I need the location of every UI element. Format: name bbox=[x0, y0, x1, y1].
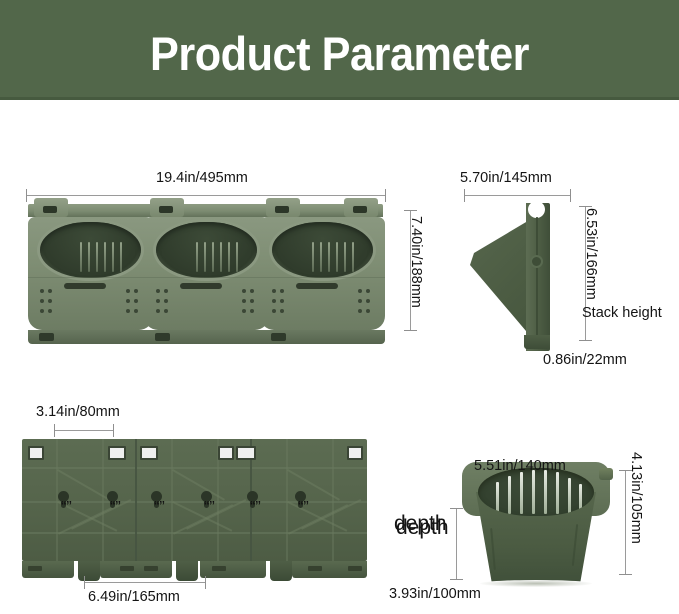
dimension-tick bbox=[579, 340, 592, 341]
dimension-tick bbox=[113, 424, 114, 437]
planter-hanger-tab bbox=[266, 198, 300, 217]
label-pot-depth: depth bbox=[396, 516, 449, 540]
panel-mount-slot bbox=[140, 446, 158, 460]
dimension-tick bbox=[464, 189, 465, 202]
dimension-tick bbox=[404, 330, 417, 331]
pocket-grip-slot bbox=[64, 283, 106, 289]
back-panel-foot bbox=[22, 561, 367, 581]
dimension-line-panel-module-width bbox=[54, 430, 114, 431]
dimension-line-planter-width bbox=[26, 195, 386, 196]
label-stack-height: Stack height bbox=[582, 305, 662, 321]
panel-keyhole bbox=[106, 491, 119, 508]
dimension-planter-width: 19.4in/495mm bbox=[156, 170, 248, 186]
dimension-tick bbox=[619, 574, 632, 575]
pot-side-tab bbox=[599, 468, 613, 480]
pot-body bbox=[462, 462, 610, 584]
dimension-line-bracket-depth bbox=[464, 195, 571, 196]
pocket-opening bbox=[156, 222, 257, 278]
page-title: Product Parameter bbox=[27, 26, 652, 81]
planter-foot bbox=[144, 330, 269, 344]
dimension-tick bbox=[84, 576, 85, 589]
panel-keyhole bbox=[200, 491, 213, 508]
dimension-tick bbox=[579, 206, 592, 207]
pocket-opening bbox=[272, 222, 373, 278]
panel-mount-slot bbox=[218, 446, 234, 460]
pocket-grip-slot bbox=[180, 283, 222, 289]
page-header-banner: Product Parameter bbox=[0, 0, 679, 100]
dimension-tick bbox=[570, 189, 571, 202]
dimension-tick bbox=[54, 424, 55, 437]
dimension-pot-height: 4.13in/105mm bbox=[628, 452, 644, 544]
dimension-panel-module-width: 3.14in/80mm bbox=[36, 404, 120, 420]
dimension-tick bbox=[26, 189, 27, 202]
dimension-tick bbox=[404, 210, 417, 211]
planter-foot bbox=[260, 330, 385, 344]
bracket-base-lip bbox=[524, 335, 550, 349]
dimension-bracket-base: 0.86in/22mm bbox=[543, 352, 627, 368]
dimension-line-panel-pitch bbox=[84, 582, 206, 583]
bracket-profile bbox=[470, 203, 566, 351]
dimension-line-panel-depth bbox=[456, 508, 457, 580]
planter-hanger-tab bbox=[344, 198, 378, 217]
panel-keyhole bbox=[246, 491, 259, 508]
panel-keyhole bbox=[150, 491, 163, 508]
bracket-pivot-boss bbox=[532, 257, 541, 266]
dimension-tick bbox=[205, 576, 206, 589]
pot-opening bbox=[478, 468, 594, 516]
panel-mount-slot bbox=[108, 446, 126, 460]
bracket-back-spine bbox=[526, 203, 550, 351]
dimension-line-pot-height bbox=[625, 470, 626, 575]
planter-top-rail bbox=[28, 204, 383, 217]
dimension-tick bbox=[619, 470, 632, 471]
planter-hanger-tab bbox=[150, 198, 184, 217]
panel-keyhole bbox=[57, 491, 70, 508]
dimension-pot-base-width: 3.93in/100mm bbox=[389, 586, 481, 602]
bracket-groove bbox=[536, 217, 538, 337]
planter-pocket bbox=[260, 217, 385, 330]
planter-foot bbox=[28, 330, 153, 344]
panel-mount-slot bbox=[236, 446, 256, 460]
pocket-opening bbox=[40, 222, 141, 278]
bracket-top-notch bbox=[528, 201, 545, 218]
dimension-bracket-depth: 5.70in/145mm bbox=[460, 170, 552, 186]
back-panel-body bbox=[22, 439, 367, 561]
panel-mount-slot bbox=[28, 446, 44, 460]
pocket-grip-slot bbox=[296, 283, 338, 289]
panel-keyhole bbox=[294, 491, 307, 508]
dimension-pot-top-width: 5.51in/140mm bbox=[474, 458, 566, 474]
dimension-panel-pitch: 6.49in/165mm bbox=[88, 589, 180, 605]
panel-mount-slot bbox=[347, 446, 363, 460]
planter-hanger-tab bbox=[34, 198, 68, 217]
planter-pocket bbox=[144, 217, 269, 330]
dimension-line-planter-height bbox=[410, 210, 411, 330]
planter-pocket bbox=[28, 217, 153, 330]
dimension-tick bbox=[385, 189, 386, 202]
